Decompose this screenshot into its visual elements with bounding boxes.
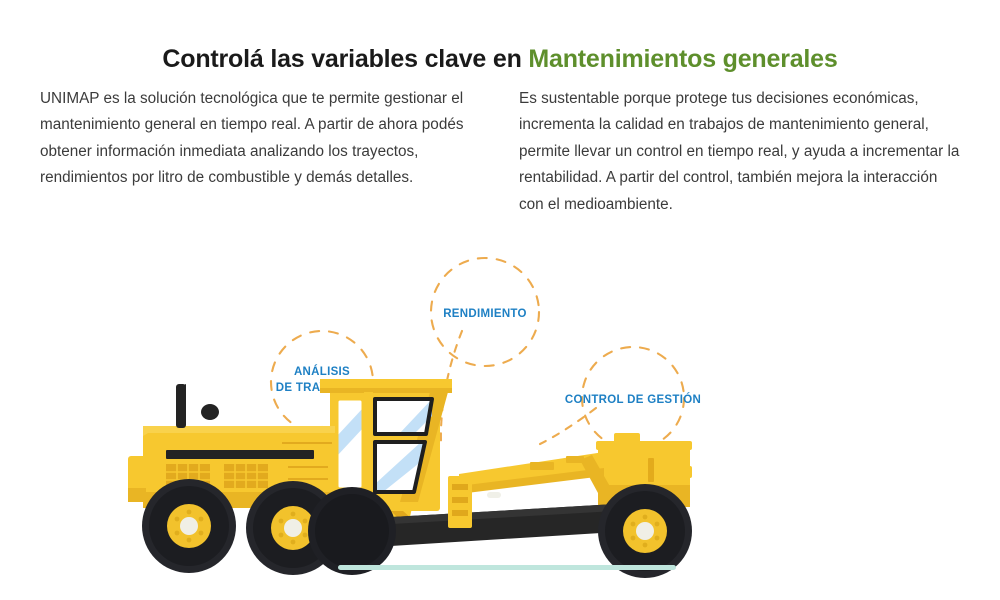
intro-columns: UNIMAP es la solución tecnológica que te… [40, 86, 960, 218]
grader-wheel-mid-b [308, 487, 396, 575]
grader-rear-cap [596, 441, 692, 450]
grader-hood-grille-right [224, 464, 268, 488]
grader-cab-steps [452, 484, 468, 516]
grader-frame-plate [530, 462, 554, 470]
intro-paragraph-left: UNIMAP es la solución tecnológica que te… [40, 86, 481, 192]
intro-paragraph-right: Es sustentable porque protege tus decisi… [519, 86, 960, 218]
bubble-label-control: CONTROL DE GESTIÓN [565, 393, 701, 406]
grader-hood-panel-line-2 [288, 466, 328, 468]
intro-column-left: UNIMAP es la solución tecnológica que te… [40, 86, 481, 218]
connector-control [540, 408, 596, 444]
intro-column-right: Es sustentable porque protege tus decisi… [519, 86, 960, 218]
grader-cab-side-handle [487, 492, 501, 498]
grader-hood-panel-line [282, 442, 332, 444]
illustration-svg: RENDIMIENTO ANÁLISIS DE TRAYECTOS CONTRO… [0, 236, 1000, 600]
grader-hood-nose-shade [128, 488, 146, 502]
grader-wheel-front [142, 479, 236, 573]
page-root: Controlá las variables clave en Mantenim… [0, 0, 1000, 600]
grader-air-cleaner [201, 404, 219, 420]
grader-rear-vent [648, 458, 654, 482]
page-title: Controlá las variables clave en Mantenim… [0, 45, 1000, 74]
bubble-rendimiento: RENDIMIENTO [431, 258, 539, 366]
grader-hood-top-bevel [143, 426, 335, 433]
grader-wheel-rear [598, 484, 692, 578]
grader-frame-box [614, 433, 640, 445]
grader-hood-panel-line-3 [288, 478, 328, 480]
grader-rear-lamp [682, 466, 692, 478]
bubble-label-rendimiento: RENDIMIENTO [443, 308, 527, 320]
grader-frame-plate-2 [566, 456, 584, 463]
grader-illustration: RENDIMIENTO ANÁLISIS DE TRAYECTOS CONTRO… [0, 236, 1000, 600]
bubble-label-analisis-line1: ANÁLISIS [294, 365, 350, 378]
page-title-plain: Controlá las variables clave en [162, 45, 528, 73]
ground-line [338, 565, 676, 570]
motor-grader-vehicle [128, 379, 692, 578]
page-title-accent: Mantenimientos generales [528, 45, 837, 73]
grader-hood-stripe [166, 450, 314, 459]
grader-cab-pillar [364, 392, 373, 502]
